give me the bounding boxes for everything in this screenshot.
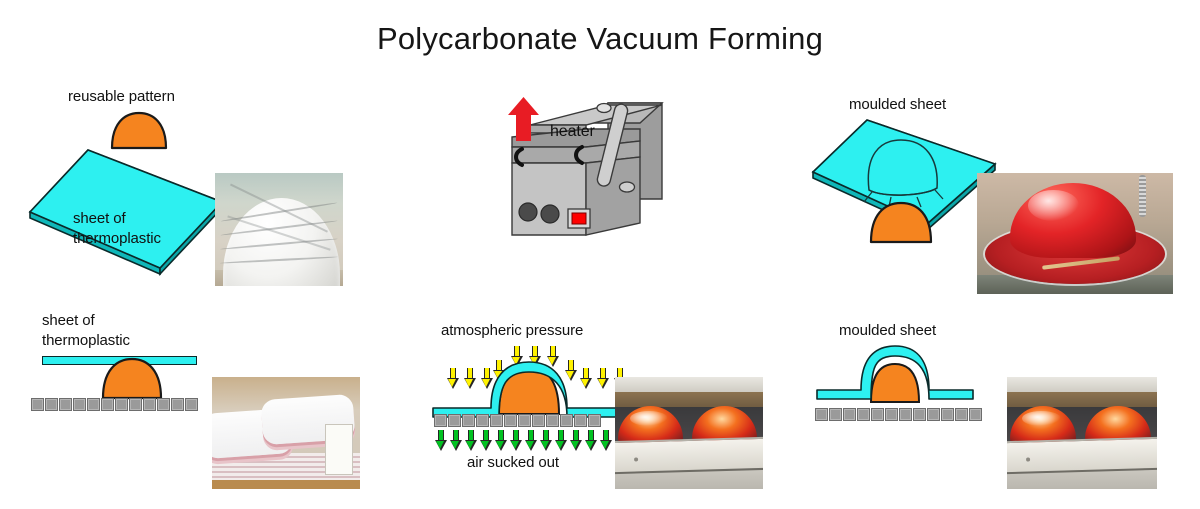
vacuum-bed-cell bbox=[185, 398, 198, 411]
vacuum-bed-cell bbox=[448, 414, 461, 427]
vacuum-arrow-down-icon bbox=[480, 430, 491, 451]
vacuum-arrow-down-icon bbox=[510, 430, 521, 451]
stage1-sheet-label-line2: thermoplastic bbox=[73, 230, 161, 248]
photo-vacuum-machine-formed bbox=[1007, 377, 1157, 489]
stage-3-moulded-sheet: moulded sheet bbox=[805, 92, 1005, 252]
page-title: Polycarbonate Vacuum Forming bbox=[0, 21, 1200, 57]
vacuum-bed-cell bbox=[462, 414, 475, 427]
stage1-sheet-label-line1: sheet of bbox=[73, 210, 126, 228]
stage5-air-sucked-out-label: air sucked out bbox=[467, 454, 559, 472]
vacuum-bed-cell bbox=[87, 398, 100, 411]
vacuum-bed-cell bbox=[101, 398, 114, 411]
vacuum-bed-cell bbox=[560, 414, 573, 427]
stage4-sheet-label-line1: sheet of bbox=[42, 312, 95, 330]
photo-stacked-polycarbonate-sheets bbox=[212, 377, 360, 489]
vacuum-bed-cell bbox=[574, 414, 587, 427]
vacuum-bed-cell bbox=[129, 398, 142, 411]
vacuum-bed-cell bbox=[885, 408, 898, 421]
heater-knob-right-icon bbox=[541, 205, 559, 223]
vacuum-bed-stage6 bbox=[815, 408, 983, 421]
vacuum-arrow-down-icon bbox=[435, 430, 446, 451]
stage-4-sheet-over-bed: sheet of thermoplastic bbox=[20, 312, 230, 422]
stage5-atmospheric-pressure-label: atmospheric pressure bbox=[441, 322, 583, 340]
vacuum-arrow-down-icon bbox=[465, 430, 476, 451]
vacuum-bed-cell bbox=[490, 414, 503, 427]
vacuum-bed-cell bbox=[73, 398, 86, 411]
vacuum-arrow-down-icon bbox=[570, 430, 581, 451]
vacuum-arrow-down-icon bbox=[600, 430, 611, 451]
stage1-pattern-label: reusable pattern bbox=[68, 88, 175, 106]
vacuum-bed-cell bbox=[476, 414, 489, 427]
vacuum-bed-cell bbox=[899, 408, 912, 421]
stage4-sheet-label-line2: thermoplastic bbox=[42, 332, 130, 350]
vacuum-bed-cell bbox=[171, 398, 184, 411]
vacuum-bed-cell bbox=[927, 408, 940, 421]
red-indicator-light-icon bbox=[568, 209, 590, 228]
vacuum-bed-cell bbox=[434, 414, 447, 427]
vacuum-bed-cell bbox=[955, 408, 968, 421]
reusable-pattern-dome-icon bbox=[100, 356, 164, 400]
vacuum-bed-cell bbox=[913, 408, 926, 421]
vacuum-bed-cell bbox=[115, 398, 128, 411]
vacuum-bed-cell bbox=[815, 408, 828, 421]
vacuum-bed-cell bbox=[532, 414, 545, 427]
vacuum-arrow-down-icon bbox=[495, 430, 506, 451]
heater-machine-3d bbox=[490, 95, 675, 245]
reusable-pattern-dome-icon bbox=[867, 200, 935, 244]
vacuum-bed-cell bbox=[157, 398, 170, 411]
moulded-sheet-lifted-off-pattern bbox=[815, 344, 995, 414]
vacuum-bed-cell bbox=[143, 398, 156, 411]
vacuum-arrow-down-icon bbox=[450, 430, 461, 451]
vacuum-arrow-down-icon bbox=[555, 430, 566, 451]
photo-red-formed-helmet bbox=[977, 173, 1173, 294]
vacuum-bed-cell bbox=[45, 398, 58, 411]
vacuum-arrow-down-icon bbox=[540, 430, 551, 451]
vacuum-bed-cell bbox=[546, 414, 559, 427]
photo-white-helmet-pattern bbox=[215, 173, 343, 286]
vacuum-bed-cell bbox=[518, 414, 531, 427]
photo-vacuum-machine-heating bbox=[615, 377, 763, 489]
vacuum-bed-stage4 bbox=[31, 398, 199, 411]
vacuum-bed-cell bbox=[843, 408, 856, 421]
vacuum-bed-cell bbox=[871, 408, 884, 421]
stage-1-pattern-and-sheet: reusable pattern sheet of thermoplastic bbox=[20, 80, 230, 300]
vacuum-bed-cell bbox=[969, 408, 982, 421]
stage2-heater-label: heater bbox=[550, 123, 595, 141]
stage6-moulded-sheet-label: moulded sheet bbox=[839, 322, 936, 340]
vacuum-bed-cell bbox=[504, 414, 517, 427]
stage-2-heater: heater bbox=[490, 95, 675, 245]
vacuum-arrow-down-icon bbox=[525, 430, 536, 451]
stage-6-moulded-sheet-on-bed: moulded sheet bbox=[815, 322, 1000, 422]
vacuum-bed-cell bbox=[588, 414, 601, 427]
thermoplastic-sheet-3d bbox=[26, 142, 226, 277]
vacuum-bed-cell bbox=[31, 398, 44, 411]
vacuum-bed-cell bbox=[829, 408, 842, 421]
vacuum-arrow-down-icon bbox=[585, 430, 596, 451]
vacuum-bed-stage5 bbox=[434, 414, 602, 427]
vacuum-bed-cell bbox=[941, 408, 954, 421]
vacuum-bed-cell bbox=[857, 408, 870, 421]
heater-knob-left-icon bbox=[519, 203, 537, 221]
vacuum-bed-cell bbox=[59, 398, 72, 411]
stage3-moulded-sheet-label: moulded sheet bbox=[849, 96, 946, 114]
stage-5-vacuum-forming: atmospheric pressure bbox=[425, 322, 640, 452]
